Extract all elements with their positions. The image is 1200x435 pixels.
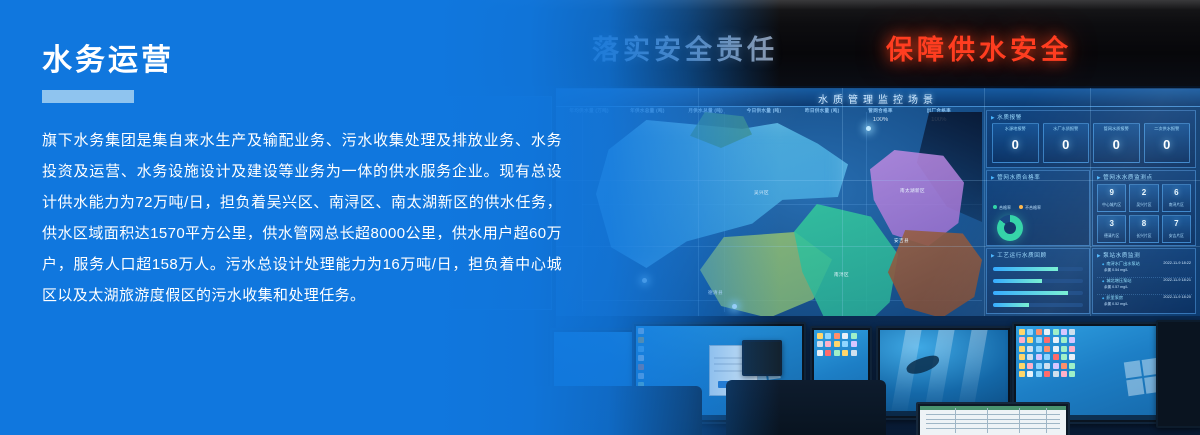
legend-swatch-icon (1019, 205, 1023, 209)
app-icon[interactable] (834, 350, 840, 356)
file-icon[interactable] (1027, 354, 1033, 360)
point-value: 3 (1098, 219, 1125, 228)
point-value: 9 (1098, 188, 1125, 197)
app-icon[interactable] (1053, 363, 1059, 369)
point-label: 长兴片区 (1130, 234, 1157, 239)
file-icon[interactable] (1053, 337, 1059, 343)
alarm-card-value: 0 (993, 137, 1038, 152)
alarm-card-value: 0 (1094, 137, 1139, 152)
point-label: 南浔片区 (1163, 203, 1190, 208)
file-icon[interactable] (851, 350, 857, 356)
right-console-monitor (1156, 320, 1200, 428)
process-bar-fill (993, 267, 1058, 271)
file-icon[interactable] (842, 333, 848, 339)
app-icon[interactable] (1036, 354, 1042, 360)
process-bar-fill (993, 279, 1042, 283)
app-icon[interactable] (842, 341, 848, 347)
panel-monitoring-points: 管网水水质监测点 9 中心城片区 2 吴兴片区 6 南浔片区 3 德清片区 (1092, 170, 1196, 246)
app-icon[interactable] (1061, 371, 1067, 377)
map-marker-dot (866, 126, 871, 131)
log-metric: 余氯 0.57 mg/L (1104, 285, 1128, 290)
file-icon[interactable] (1027, 346, 1033, 352)
panel-water-quality-alarm: 水质报警 水源地报警 0 水厂水质报警 0 管网水质报警 0 二次供水报警 0 (986, 110, 1196, 168)
title-underline-bar (42, 90, 134, 103)
app-icon[interactable] (1053, 329, 1059, 335)
alarm-card-value: 0 (1145, 137, 1190, 152)
app-icon[interactable] (1036, 329, 1042, 335)
pass-rate-donut-chart (997, 215, 1023, 241)
alarm-card-row: 水源地报警 0 水厂水质报警 0 管网水质报警 0 二次供水报警 0 (992, 123, 1190, 163)
app-icon[interactable] (1019, 337, 1025, 343)
monitoring-point-cell: 8 长兴片区 (1129, 215, 1158, 243)
section-description: 旗下水务集团是集自来水生产及输配业务、污水收集处理及排放业务、水务投资及运营、水… (42, 125, 562, 311)
app-icon[interactable] (1044, 354, 1050, 360)
panel-pump-station-log: 泵站水质监测 南浔水厂出水泵站 2022-11-9 18:22 余氯 0.54 … (1092, 248, 1196, 314)
legend-item-fail: 不合格率 (1019, 205, 1041, 211)
map-label-anji: 安吉县 (894, 238, 909, 244)
process-bar (993, 291, 1083, 295)
folder-icon[interactable] (834, 341, 840, 347)
log-metric: 余氯 0.54 mg/L (1104, 268, 1128, 273)
point-value: 6 (1163, 188, 1190, 197)
log-name: 织里泵房 (1102, 295, 1123, 301)
app-icon[interactable] (1061, 329, 1067, 335)
alarm-card-label: 水厂水质报警 (1044, 126, 1089, 132)
folder-icon[interactable] (1019, 371, 1025, 377)
alarm-card-value: 0 (1044, 137, 1089, 152)
log-name: 南浔水厂出水泵站 (1102, 261, 1140, 267)
log-time: 2022-11-9 18:20 (1163, 295, 1191, 299)
laptop-spreadsheet (916, 402, 1070, 435)
panel-title: 水质报警 (991, 113, 1022, 121)
app-icon[interactable] (825, 341, 831, 347)
log-time: 2022-11-9 18:22 (1163, 261, 1191, 265)
alarm-card-label: 二次供水报警 (1145, 126, 1190, 132)
map-label-nantaihu: 南太湖新区 (900, 188, 925, 194)
process-bar (993, 303, 1083, 307)
app-icon[interactable] (1044, 346, 1050, 352)
monitoring-point-cell: 9 中心城片区 (1097, 184, 1126, 212)
app-icon[interactable] (1069, 346, 1075, 352)
app-icon[interactable] (1036, 346, 1042, 352)
panel-title: 工艺运行水质回顾 (991, 251, 1047, 259)
wall-seam (1090, 88, 1091, 316)
panel-title: 泵站水质监测 (1097, 251, 1140, 259)
app-icon[interactable] (1027, 363, 1033, 369)
point-label: 安吉片区 (1163, 234, 1190, 239)
content-block: 水务运营 旗下水务集团是集自来水生产及输配业务、污水收集处理及排放业务、水务投资… (40, 46, 570, 311)
point-label: 德清片区 (1098, 234, 1125, 239)
spreadsheet-header (920, 406, 1066, 410)
folder-icon[interactable] (1027, 337, 1033, 343)
app-icon[interactable] (851, 333, 857, 339)
legend-label: 不合格率 (1025, 205, 1041, 210)
page-title: 水务运营 (42, 46, 570, 76)
file-icon[interactable] (1044, 363, 1050, 369)
app-icon[interactable] (1069, 363, 1075, 369)
panel-process-water-review: 工艺运行水质回顾 (986, 248, 1090, 314)
wall-seam (984, 88, 985, 316)
desktop-icon-grid[interactable] (1019, 329, 1075, 377)
log-row: 南浔水厂出水泵站 2022-11-9 18:22 余氯 0.54 mg/L (1097, 260, 1192, 278)
monitoring-points-grid: 9 中心城片区 2 吴兴片区 6 南浔片区 3 德清片区 8 长兴片区 (1097, 184, 1191, 243)
process-bar-fill (993, 303, 1029, 307)
point-value: 2 (1130, 188, 1157, 197)
app-icon[interactable] (1061, 363, 1067, 369)
monitoring-point-cell: 7 安吉片区 (1162, 215, 1191, 243)
pass-rate-legend: 合格率 不合格率 (993, 205, 1041, 211)
point-label: 中心城片区 (1098, 203, 1125, 208)
app-icon[interactable] (825, 350, 831, 356)
legend-item-pass: 合格率 (993, 205, 1011, 211)
folder-icon[interactable] (1019, 363, 1025, 369)
alarm-card: 管网水质报警 0 (1093, 123, 1140, 163)
file-icon[interactable] (817, 341, 823, 347)
slogan-right: 保障供水安全 (886, 28, 1072, 67)
log-row: 城北增压泵站 2022-11-9 18:21 余氯 0.57 mg/L (1097, 277, 1192, 295)
process-bar (993, 279, 1083, 283)
folder-icon[interactable] (817, 333, 823, 339)
alarm-card: 水源地报警 0 (992, 123, 1039, 163)
folder-icon[interactable] (1019, 346, 1025, 352)
file-icon[interactable] (1069, 329, 1075, 335)
app-icon[interactable] (825, 333, 831, 339)
monitoring-point-cell: 2 吴兴片区 (1129, 184, 1158, 212)
file-icon[interactable] (1069, 354, 1075, 360)
app-icon[interactable] (1061, 346, 1067, 352)
panel-network-pass-rate: 管网水质合格率 合格率 不合格率 (986, 170, 1090, 246)
app-icon[interactable] (1036, 337, 1042, 343)
log-row: 织里泵房 2022-11-9 18:20 余氯 0.52 mg/L (1097, 294, 1192, 311)
file-icon[interactable] (1027, 371, 1033, 377)
spreadsheet-screen[interactable] (920, 406, 1066, 435)
app-icon[interactable] (1044, 371, 1050, 377)
water-operations-banner: 落实安全责任 保障供水安全 水质管理监控场景 年均供水量 (万吨) 年供水总量 … (0, 0, 1200, 435)
point-value: 8 (1130, 219, 1157, 228)
log-metric: 余氯 0.52 mg/L (1104, 302, 1128, 307)
file-icon[interactable] (1053, 371, 1059, 377)
legend-label: 合格率 (999, 205, 1011, 210)
app-icon[interactable] (1036, 371, 1042, 377)
point-label: 吴兴片区 (1130, 203, 1157, 208)
app-icon[interactable] (1036, 363, 1042, 369)
app-icon[interactable] (851, 341, 857, 347)
wall-title-text: 水质管理监控场景 (818, 91, 938, 106)
log-name: 城北增压泵站 (1102, 278, 1131, 284)
folder-icon[interactable] (1019, 354, 1025, 360)
alarm-card: 水厂水质报警 0 (1043, 123, 1090, 163)
alarm-card: 二次供水报警 0 (1144, 123, 1191, 163)
file-icon[interactable] (817, 350, 823, 356)
folder-icon[interactable] (1019, 329, 1025, 335)
point-value: 7 (1163, 219, 1190, 228)
log-time: 2022-11-9 18:21 (1163, 278, 1191, 282)
app-icon[interactable] (1053, 354, 1059, 360)
file-icon[interactable] (1044, 329, 1050, 335)
monitoring-point-cell: 6 南浔片区 (1162, 184, 1191, 212)
legend-swatch-icon (993, 205, 997, 209)
app-icon[interactable] (1027, 329, 1033, 335)
monitoring-point-cell: 3 德清片区 (1097, 215, 1126, 243)
app-icon[interactable] (1069, 337, 1075, 343)
app-icon[interactable] (1061, 354, 1067, 360)
alarm-card-label: 管网水质报警 (1094, 126, 1139, 132)
app-icon[interactable] (1044, 337, 1050, 343)
process-bar-fill (993, 291, 1068, 295)
folder-icon[interactable] (842, 350, 848, 356)
app-icon[interactable] (834, 333, 840, 339)
process-bar (993, 267, 1083, 271)
alarm-card-label: 水源地报警 (993, 126, 1038, 132)
desktop-icon-grid[interactable] (817, 333, 857, 356)
app-icon[interactable] (1061, 337, 1067, 343)
app-icon[interactable] (1069, 371, 1075, 377)
file-icon[interactable] (1053, 346, 1059, 352)
wall-seam (842, 88, 843, 316)
